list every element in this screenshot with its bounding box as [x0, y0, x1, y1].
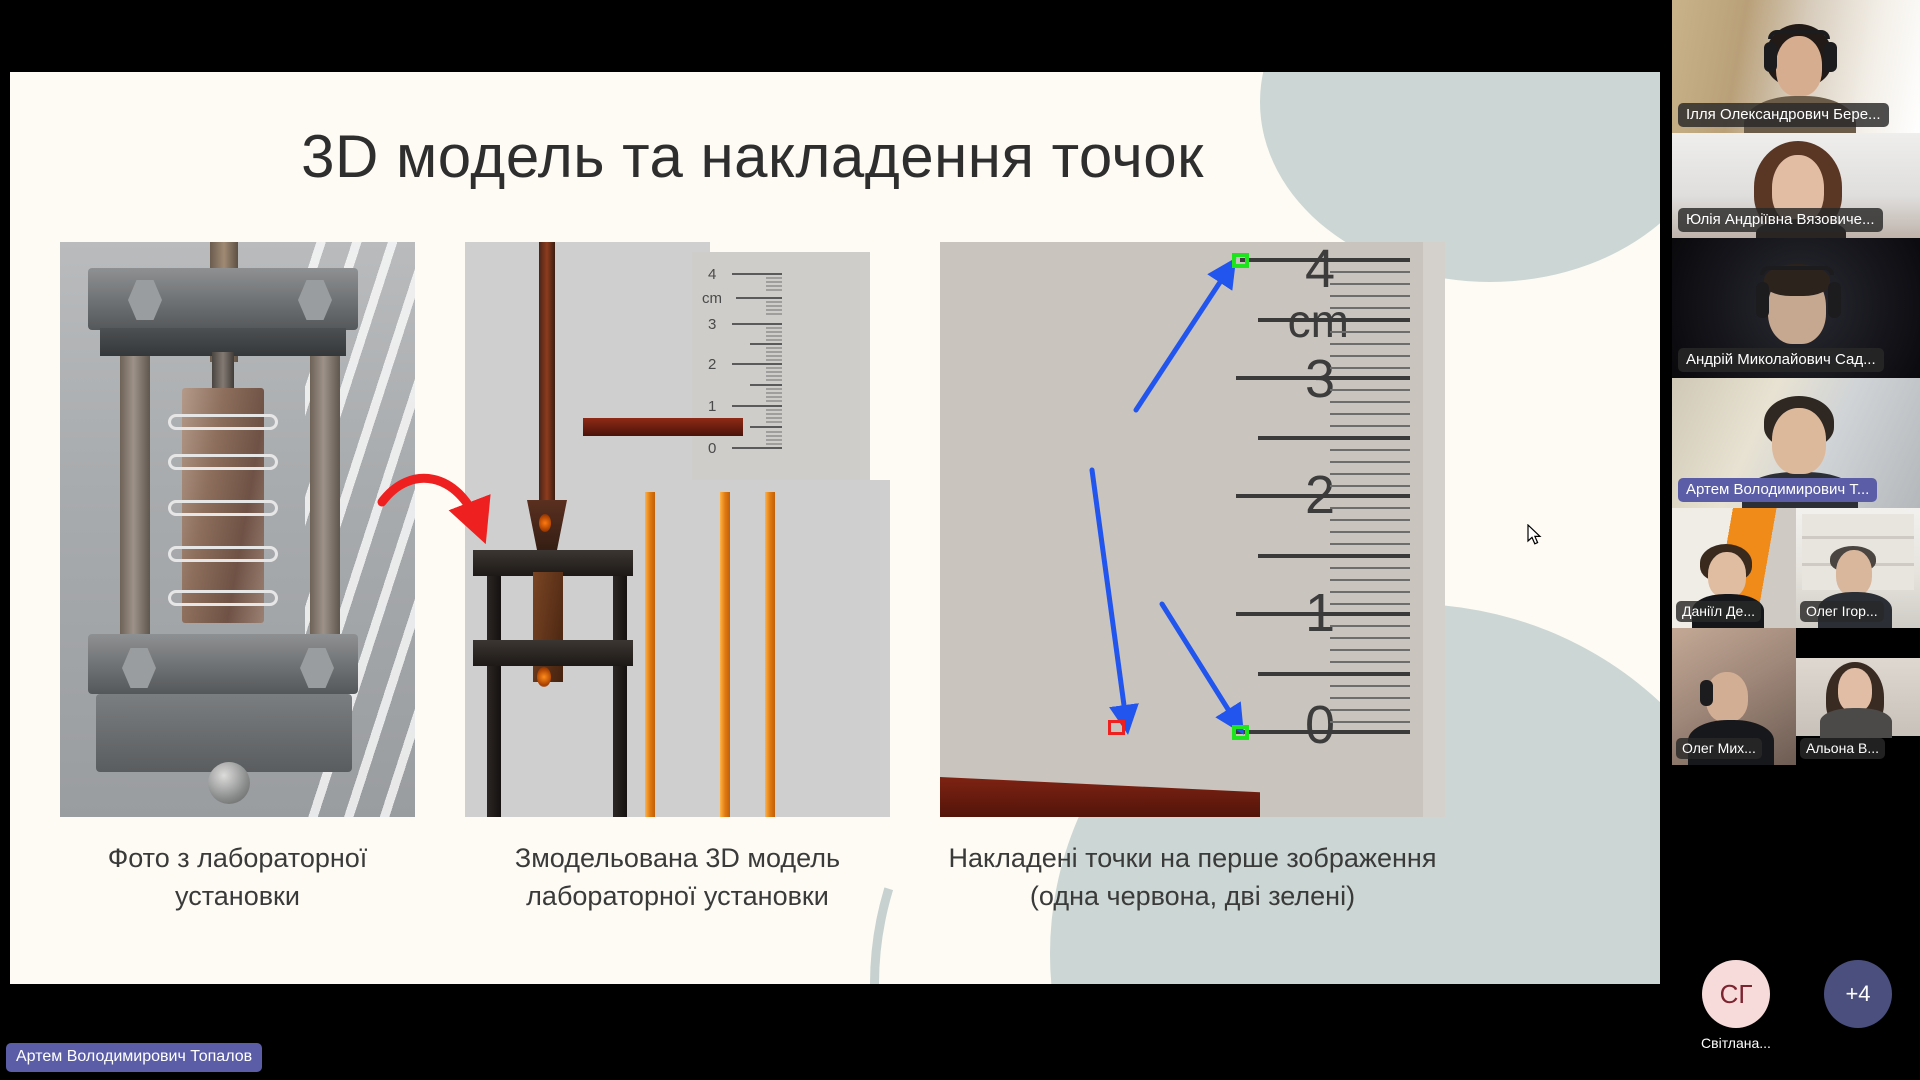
headphone-left-icon	[1756, 282, 1769, 318]
model-orange-post-mid	[720, 492, 730, 817]
figure-1-caption: Фото з лабораторної установки	[60, 839, 415, 916]
model-image: 4 cm 3 2 1 0	[465, 242, 890, 817]
overlay-label-0: 0	[1305, 694, 1335, 756]
ruler-label-2: 2	[708, 356, 716, 373]
model-orange-post-left	[645, 492, 655, 817]
participant-tile-0[interactable]: Ілля Олександрович Бере...	[1672, 0, 1920, 133]
bottom-block	[96, 694, 352, 772]
overlay-label-cm: cm	[1288, 294, 1349, 348]
green-marker-top	[1232, 253, 1249, 268]
participant-name: Альона В...	[1800, 738, 1885, 759]
overlay-label-3: 3	[1305, 348, 1335, 410]
model-orange-post-right	[765, 492, 775, 817]
coil-3	[168, 500, 278, 516]
headphone-right-icon	[1828, 282, 1841, 318]
video-inner-frame	[1796, 658, 1920, 736]
mouse-cursor	[1527, 524, 1543, 546]
participant-tile-pair-1[interactable]: Даніїл Де... Олег Ігор...	[1672, 508, 1920, 628]
participant-tile-4[interactable]: Даніїл Де...	[1672, 508, 1796, 628]
model-column-right	[613, 550, 627, 817]
model-glow-top	[539, 514, 551, 532]
coil-2	[168, 454, 278, 470]
ruler-label-0: 0	[708, 440, 716, 457]
face	[1836, 550, 1872, 596]
headphone-band-icon	[1768, 30, 1830, 39]
overlay-right-strip	[1423, 242, 1445, 817]
participant-tile-1[interactable]: Юлія Андріївна Вязовиче...	[1672, 133, 1920, 238]
caption-line-1: Змодельована 3D модель	[465, 839, 890, 877]
participant-name: Олег Мих...	[1676, 738, 1762, 759]
figure-3-caption: Накладені точки на перше зображення (одн…	[940, 839, 1445, 916]
participant-tile-7[interactable]: Альона В...	[1796, 628, 1920, 765]
red-marker	[1108, 720, 1125, 735]
face	[1776, 36, 1822, 96]
bottom-nut	[208, 762, 250, 804]
ruler-label-cm: cm	[702, 290, 722, 307]
ruler-label-1: 1	[708, 398, 716, 415]
avatar-initials[interactable]: СГ	[1702, 960, 1770, 1028]
face	[1708, 552, 1746, 598]
model-rod	[539, 242, 555, 512]
overflow-avatar-row[interactable]: СГ Світлана... +4	[1672, 935, 1920, 1080]
headphone-left-icon	[1700, 680, 1713, 706]
participant-name: Артем Володимирович Т...	[1678, 478, 1877, 502]
green-marker-bottom	[1232, 725, 1249, 740]
participant-name: Юлія Андріївна Вязовиче...	[1678, 208, 1883, 232]
overlay-background	[940, 242, 1445, 817]
coil-5	[168, 590, 278, 606]
presentation-slide: 3D модель та накладення точок	[10, 72, 1660, 984]
participant-tile-5[interactable]: Олег Ігор...	[1796, 508, 1920, 628]
active-speaker-badge: Артем Володимирович Топалов	[6, 1043, 262, 1072]
lab-photo-image	[60, 242, 415, 817]
coil-4	[168, 546, 278, 562]
caption-line-2: (одна червона, дві зелені)	[940, 877, 1445, 915]
figure-2-caption: Змодельована 3D модель лабораторної уста…	[465, 839, 890, 916]
participant-tile-pair-2[interactable]: Олег Мих... Альона В...	[1672, 628, 1920, 765]
headphone-band-icon	[1760, 266, 1834, 275]
overlay-label-2: 2	[1305, 464, 1335, 526]
participant-name: Андрій Миколайович Сад...	[1678, 348, 1884, 372]
model-ruler-area: 4 cm 3 2 1 0	[692, 252, 870, 480]
overlay-image: 4 cm 3 2 1 0	[940, 242, 1445, 817]
model-column-left	[487, 550, 501, 817]
caption-line-2: установки	[60, 877, 415, 915]
avatar-initials-label: Світлана...	[1684, 1035, 1788, 1051]
headphone-left-icon	[1764, 42, 1777, 72]
participant-tile-2[interactable]: Андрій Миколайович Сад...	[1672, 238, 1920, 378]
face	[1772, 408, 1826, 474]
torso	[1820, 708, 1892, 738]
avatar-overflow-count[interactable]: +4	[1824, 960, 1892, 1028]
model-glow-bottom	[537, 667, 551, 687]
caption-line-1: Накладені точки на перше зображення	[940, 839, 1445, 877]
figure-lab-photo: Фото з лабораторної установки	[60, 242, 415, 916]
participant-name: Олег Ігор...	[1800, 601, 1884, 622]
coil-1	[168, 414, 278, 430]
caption-line-1: Фото з лабораторної	[60, 839, 415, 877]
overlay-label-1: 1	[1305, 582, 1335, 644]
figure-overlaid-points: 4 cm 3 2 1 0	[940, 242, 1445, 916]
model-red-bar	[583, 418, 743, 436]
participant-name: Даніїл Де...	[1676, 601, 1761, 622]
slide-title: 3D модель та накладення точок	[10, 122, 1495, 191]
model-crossbar-bottom	[473, 640, 633, 666]
meeting-window: 3D модель та накладення точок	[0, 0, 1920, 1080]
press-rod-lower	[212, 352, 234, 392]
participant-tile-3[interactable]: Артем Володимирович Т...	[1672, 378, 1920, 508]
headphone-right-icon	[1824, 42, 1837, 72]
participant-name: Ілля Олександрович Бере...	[1678, 103, 1889, 127]
participant-filmstrip[interactable]: Ілля Олександрович Бере... Юлія Андріївн…	[1672, 0, 1920, 1080]
overlay-label-4: 4	[1305, 242, 1335, 300]
figure-3d-model: 4 cm 3 2 1 0	[465, 242, 890, 916]
caption-line-2: лабораторної установки	[465, 877, 890, 915]
model-ruler-ticks	[692, 252, 870, 480]
participant-tile-6[interactable]: Олег Мих...	[1672, 628, 1796, 765]
ruler-label-4: 4	[708, 266, 716, 283]
screen-share-region: 3D модель та накладення точок	[0, 0, 1672, 1080]
face	[1838, 668, 1872, 712]
ruler-label-3: 3	[708, 316, 716, 333]
